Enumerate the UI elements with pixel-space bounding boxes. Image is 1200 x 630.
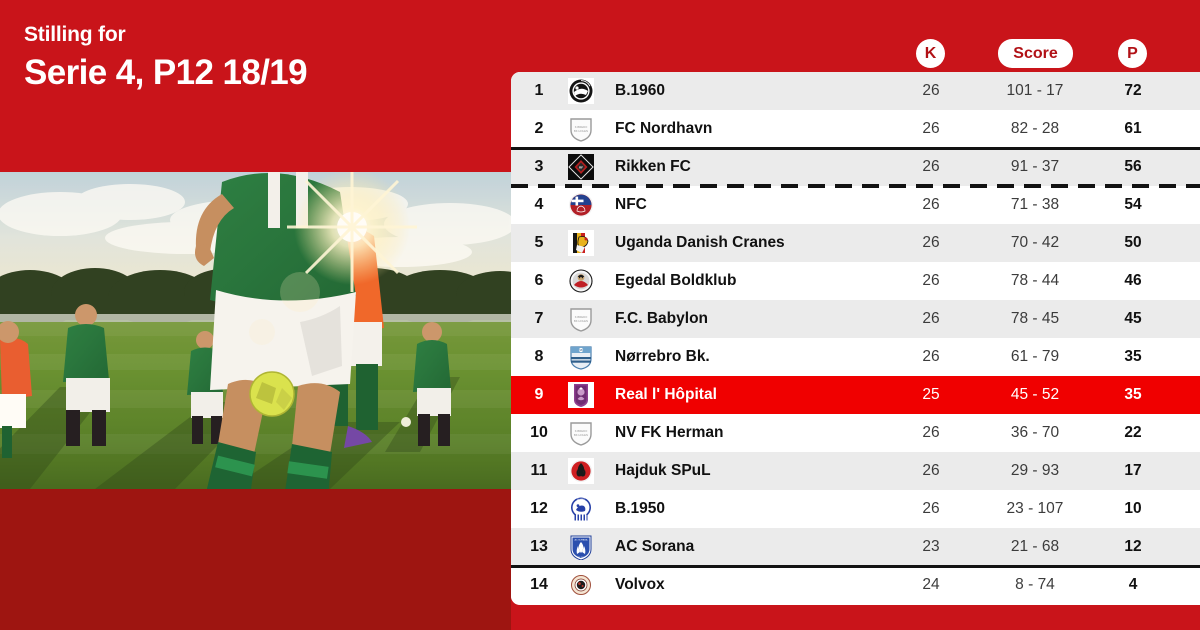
row-points: 50 [1113, 234, 1153, 252]
svg-text:BK HOLEN: BK HOLEN [574, 433, 588, 437]
row-points: 17 [1113, 462, 1153, 480]
row-score: 45 - 52 [983, 386, 1087, 404]
crest-norrebro-icon: NB [568, 344, 594, 370]
row-points: 56 [1113, 158, 1153, 176]
row-team-name[interactable]: F.C. Babylon [615, 310, 708, 328]
standings-row[interactable]: 3 RF Rikken FC2691 - 3756 [511, 148, 1200, 186]
crest-nfc-icon [568, 192, 594, 218]
row-points: 12 [1113, 538, 1153, 556]
row-points: 22 [1113, 424, 1153, 442]
row-score: 82 - 28 [983, 120, 1087, 138]
row-points: 45 [1113, 310, 1153, 328]
row-rank: 2 [521, 120, 557, 138]
header-kicker: Stilling for [24, 23, 125, 47]
row-rank: 10 [521, 424, 557, 442]
svg-text:BK HOLEN: BK HOLEN [574, 319, 588, 323]
standings-row[interactable]: 9 Real l' Hôpital2545 - 5235 [511, 376, 1200, 414]
row-team-name[interactable]: Real l' Hôpital [615, 386, 717, 404]
row-rank: 9 [521, 386, 557, 404]
row-score: 101 - 17 [983, 82, 1087, 100]
row-points: 10 [1113, 500, 1153, 518]
crest-rikken-icon: RF [568, 154, 594, 180]
standings-row[interactable]: 12 B.1950 B.19502623 - 10710 [511, 490, 1200, 528]
row-team-name[interactable]: Rikken FC [615, 158, 691, 176]
row-points: 72 [1113, 82, 1153, 100]
row-team-name[interactable]: NFC [615, 196, 647, 214]
row-played: 23 [911, 538, 951, 556]
row-score: 71 - 38 [983, 196, 1087, 214]
svg-text:EST. 2014: EST. 2014 [577, 557, 585, 559]
row-played: 26 [911, 310, 951, 328]
row-played: 26 [911, 462, 951, 480]
svg-text:B.1950: B.1950 [577, 499, 585, 502]
standings-row[interactable]: 2 K.BREDO BK HOLEN FC Nordhavn2682 - 286… [511, 110, 1200, 148]
row-score: 29 - 93 [983, 462, 1087, 480]
row-rank: 7 [521, 310, 557, 328]
row-score: 23 - 107 [983, 500, 1087, 518]
row-points: 35 [1113, 386, 1153, 404]
row-played: 26 [911, 82, 951, 100]
row-score: 78 - 44 [983, 272, 1087, 290]
row-team-name[interactable]: Uganda Danish Cranes [615, 234, 785, 252]
hero-photo [0, 172, 512, 489]
row-points: 35 [1113, 348, 1153, 366]
standings-row[interactable]: 8 NB Nørrebro Bk.2661 - 7935 [511, 338, 1200, 376]
standings-row[interactable]: 6 Egedal Boldklub2678 - 4446 [511, 262, 1200, 300]
row-played: 26 [911, 196, 951, 214]
row-played: 24 [911, 576, 951, 594]
svg-text:BK HOLEN: BK HOLEN [574, 129, 588, 133]
footer-band: DANSK · BOLDSPIL · UNION 1889 DB [0, 489, 512, 630]
header-band: Stilling for Serie 4, P12 18/19 [0, 0, 512, 172]
row-points: 61 [1113, 120, 1153, 138]
row-rank: 6 [521, 272, 557, 290]
row-points: 46 [1113, 272, 1153, 290]
row-score: 91 - 37 [983, 158, 1087, 176]
row-points: 4 [1113, 576, 1153, 594]
crest-hopital-icon [568, 382, 594, 408]
row-score: 61 - 79 [983, 348, 1087, 366]
crest-generic-icon: K.BREDO BK HOLEN [568, 306, 594, 332]
crest-sorana-icon: AC SORANA EST. 2014 [568, 534, 594, 560]
row-played: 26 [911, 120, 951, 138]
table-header: K Score P [511, 0, 1200, 72]
standings-row[interactable]: 7 K.BREDO BK HOLEN F.C. Babylon2678 - 45… [511, 300, 1200, 338]
row-played: 26 [911, 348, 951, 366]
row-team-name[interactable]: B.1950 [615, 500, 665, 518]
row-score: 78 - 45 [983, 310, 1087, 328]
row-rank: 8 [521, 348, 557, 366]
row-team-name[interactable]: Nørrebro Bk. [615, 348, 710, 366]
row-played: 26 [911, 272, 951, 290]
row-rank: 5 [521, 234, 557, 252]
row-rank: 13 [521, 538, 557, 556]
row-team-name[interactable]: AC Sorana [615, 538, 694, 556]
crest-generic-icon: K.BREDO BK HOLEN [568, 116, 594, 142]
standings-panel: K Score P 1 B.196026101 - 17722 K.BREDO … [511, 0, 1200, 630]
row-team-name[interactable]: Egedal Boldklub [615, 272, 736, 290]
row-rank: 14 [521, 576, 557, 594]
column-badge-points: P [1118, 39, 1147, 68]
standings-row[interactable]: 11 Hajduk SPuL2629 - 9317 [511, 452, 1200, 490]
standings-row[interactable]: 14 Volvox248 - 744 [511, 566, 1200, 604]
row-team-name[interactable]: NV FK Herman [615, 424, 724, 442]
standings-table: 1 B.196026101 - 17722 K.BREDO BK HOLEN F… [511, 72, 1200, 605]
svg-text:AC SORANA: AC SORANA [575, 538, 588, 541]
column-badge-score: Score [998, 39, 1073, 68]
row-played: 26 [911, 234, 951, 252]
row-rank: 12 [521, 500, 557, 518]
left-panel: Stilling for Serie 4, P12 18/19 [0, 0, 512, 630]
row-played: 26 [911, 158, 951, 176]
row-rank: 11 [521, 462, 557, 480]
row-played: 26 [911, 500, 951, 518]
row-score: 36 - 70 [983, 424, 1087, 442]
page-title: Serie 4, P12 18/19 [24, 53, 307, 93]
crest-hajduk-icon [568, 458, 594, 484]
row-score: 21 - 68 [983, 538, 1087, 556]
row-team-name[interactable]: Hajduk SPuL [615, 462, 711, 480]
row-team-name[interactable]: Volvox [615, 576, 665, 594]
standings-row[interactable]: 13 AC SORANA EST. 2014 AC Sorana2321 - 6… [511, 528, 1200, 566]
row-played: 26 [911, 424, 951, 442]
football-photo-illustration [0, 172, 512, 489]
row-played: 25 [911, 386, 951, 404]
row-score: 8 - 74 [983, 576, 1087, 594]
standings-row[interactable]: 10 K.BREDO BK HOLEN NV FK Herman2636 - 7… [511, 414, 1200, 452]
row-points: 54 [1113, 196, 1153, 214]
row-rank: 4 [521, 196, 557, 214]
crest-egedal-icon [568, 268, 594, 294]
row-rank: 1 [521, 82, 557, 100]
crest-b1960-icon [568, 78, 594, 104]
crest-uganda-icon [568, 230, 594, 256]
standings-row[interactable]: 4 NFC2671 - 3854 [511, 186, 1200, 224]
crest-volvox-icon [568, 572, 594, 598]
row-score: 70 - 42 [983, 234, 1087, 252]
svg-text:RF: RF [579, 165, 583, 169]
crest-generic-icon: K.BREDO BK HOLEN [568, 420, 594, 446]
crest-b1950-icon: B.1950 [568, 496, 594, 522]
svg-text:NB: NB [579, 348, 583, 352]
row-team-name[interactable]: FC Nordhavn [615, 120, 712, 138]
column-badge-played: K [916, 39, 945, 68]
standings-row[interactable]: 5 Uganda Danish Cranes2670 - 4250 [511, 224, 1200, 262]
row-rank: 3 [521, 158, 557, 176]
row-team-name[interactable]: B.1960 [615, 82, 665, 100]
standings-row[interactable]: 1 B.196026101 - 1772 [511, 72, 1200, 110]
